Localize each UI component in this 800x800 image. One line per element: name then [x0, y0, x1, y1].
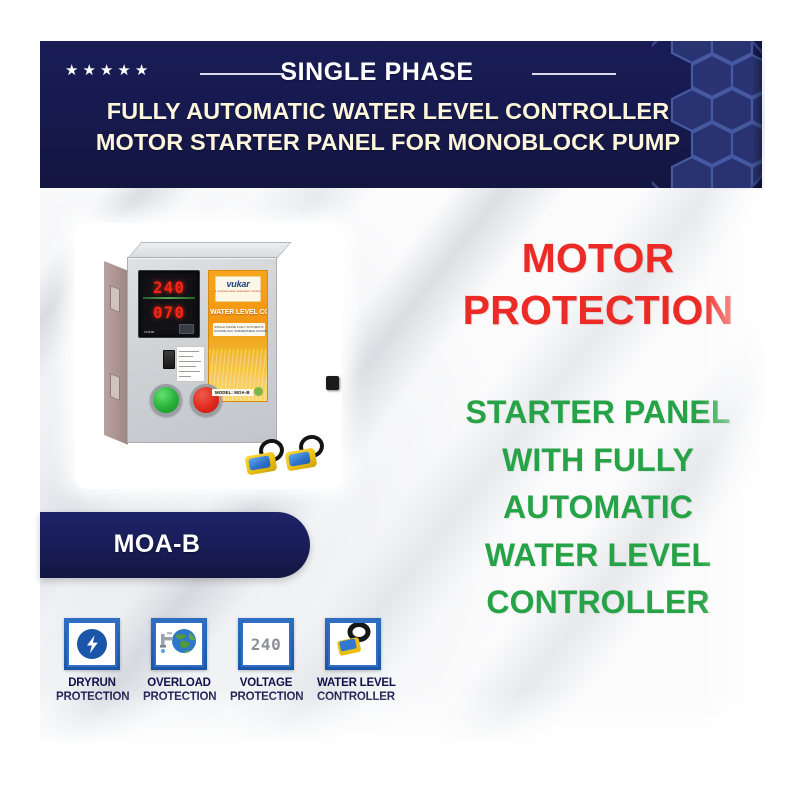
plate-fade-bottom — [40, 690, 765, 762]
product-photo: 240 070 vukar vukar a complete water aut… — [62, 210, 354, 502]
meter-display-current: 070 — [145, 303, 193, 322]
panel-front-face: 240 070 vukar vukar a complete water aut… — [127, 257, 277, 443]
feature-icon-frame — [325, 618, 381, 670]
panel-latch-icon — [326, 376, 339, 390]
brand-label-title: WATER LEVEL CONTROLLER — [210, 307, 266, 316]
voltage-display-icon: 240 — [251, 635, 281, 654]
header-title-line2: MOTOR STARTER PANEL FOR MONOBLOCK PUMP — [40, 127, 736, 158]
brand-tagline: a complete water automation solution — [209, 290, 267, 293]
plate-fade-right — [700, 190, 800, 762]
feature-label-line1: OVERLOAD — [143, 677, 215, 691]
feature-icon-frame — [64, 618, 120, 670]
feature-icon-frame: 240 — [238, 618, 294, 670]
meter-display-voltage: 240 — [145, 278, 193, 297]
model-badge-label: MOA-B — [40, 530, 310, 559]
brand-logo-text: vukar — [209, 279, 267, 289]
panel-info-card — [176, 346, 205, 382]
start-push-button — [150, 384, 182, 416]
recycle-icon — [254, 387, 263, 396]
panel-hinge-bottom-icon — [110, 373, 120, 401]
header-title: FULLY AUTOMATIC WATER LEVEL CONTROLLER M… — [40, 96, 762, 158]
feature-icon-frame — [151, 618, 207, 670]
float-switch-icon — [333, 623, 373, 666]
product-photo-card: 240 070 vukar vukar a complete water aut… — [74, 223, 342, 489]
header-title-line1: FULLY AUTOMATIC WATER LEVEL CONTROLLER — [40, 96, 736, 127]
feature-label-line1: VOLTAGE — [230, 677, 302, 691]
rocker-switch — [163, 350, 175, 369]
header-eyebrow: SINGLE PHASE — [40, 58, 762, 87]
feature-label-line1: DRYRUN — [56, 677, 128, 691]
header-band: ★ ★ ★ ★ ★ SINGLE PHASE FULLY AUTOMATIC W… — [40, 41, 762, 188]
float-switch-icon — [286, 435, 320, 469]
product-brand-label: vukar a complete water automation soluti… — [208, 270, 268, 402]
product-banner: ★ ★ ★ ★ ★ SINGLE PHASE FULLY AUTOMATIC W… — [0, 0, 800, 800]
meter-indicator-strip — [143, 297, 195, 299]
brand-label-spec: SINGLE PHASE FULLY AUTOMATIC MONOBLOCK S… — [213, 323, 265, 336]
meter-set-button — [179, 324, 194, 334]
led-meter: 240 070 vukar — [138, 270, 200, 338]
lightning-bolt-icon — [77, 629, 107, 659]
float-switch-icon — [246, 439, 280, 473]
panel-hinge-top-icon — [110, 285, 120, 313]
feature-label-line1: WATER LEVEL — [317, 677, 389, 691]
model-badge: MOA-B — [40, 512, 310, 578]
brand-spec-line2: MONOBLOCK SUBMERSIBLE STARTER PANEL — [214, 329, 264, 333]
brand-model-text: MODEL: MOA-B — [212, 389, 253, 396]
tap-globe-icon — [159, 626, 199, 663]
meter-brand-mark: vukar — [144, 329, 155, 334]
